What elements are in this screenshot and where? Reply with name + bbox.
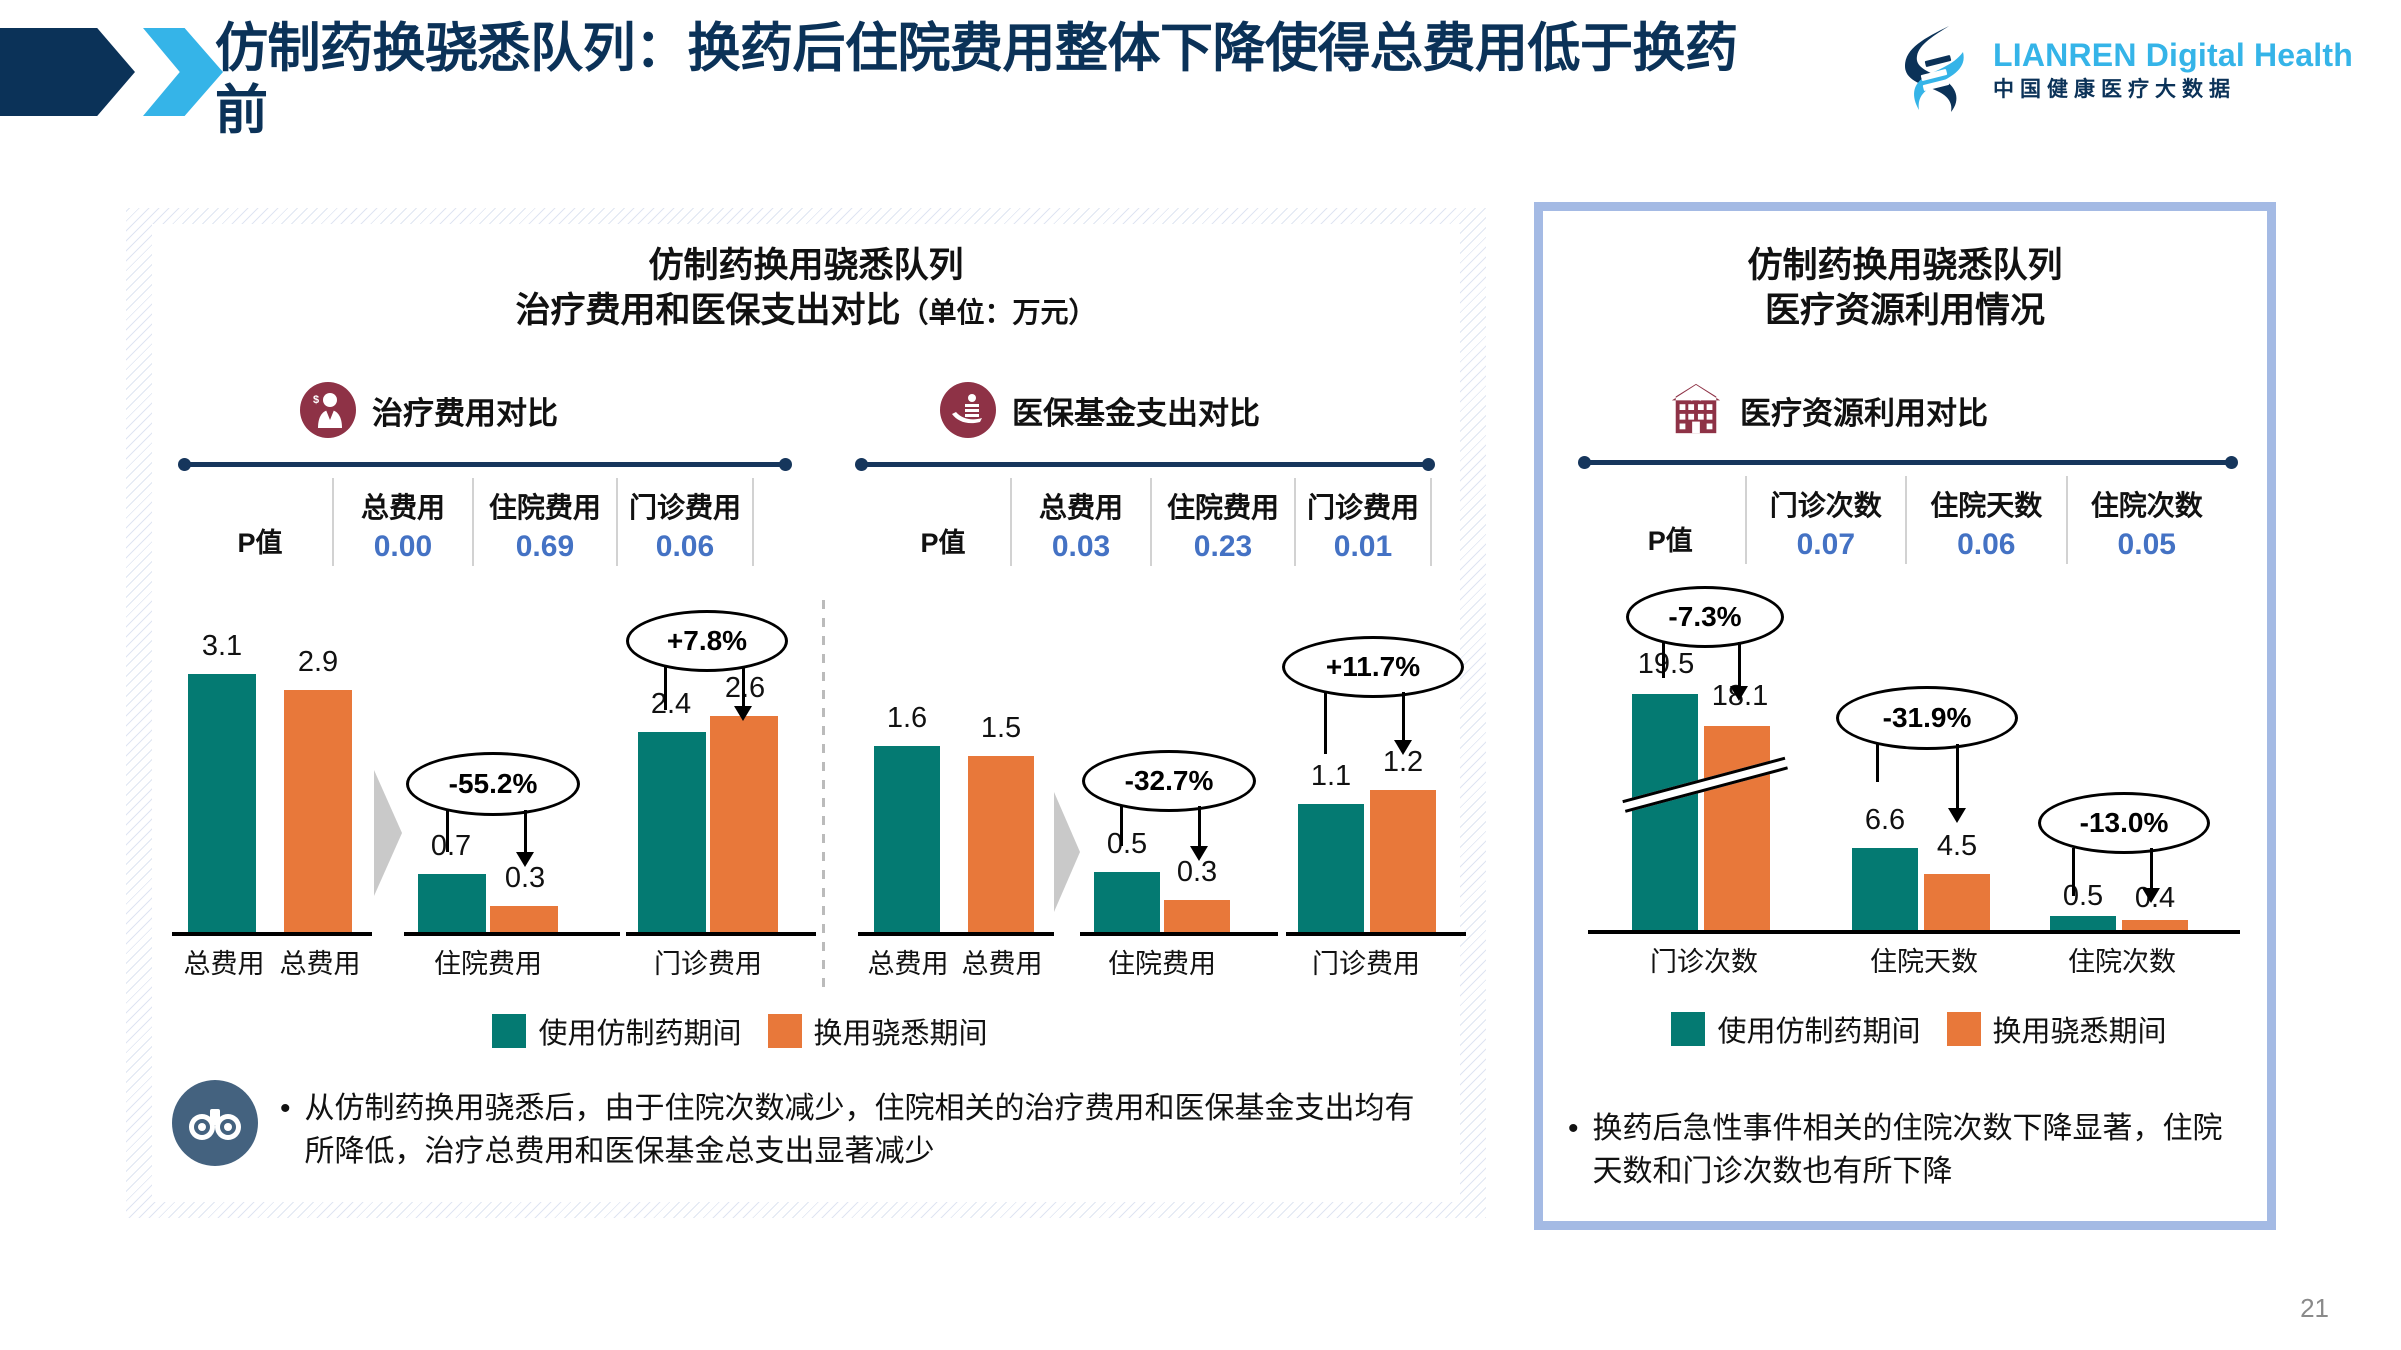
ptable-row-label: P值 (921, 521, 966, 560)
section-rule-treatment-cost (178, 458, 792, 470)
xlabel-inpatient-days: 住院天数 (1844, 940, 2004, 979)
xlabel-total-b: 总费用 (270, 942, 370, 981)
bar-teal-total (188, 674, 256, 932)
legend-item-brand: 换用骁悉期间 (768, 1010, 988, 1052)
transition-arrow-icon (1054, 792, 1080, 912)
xlabel-inpatient: 住院费用 (412, 942, 564, 981)
callout-arrow-icon (1198, 806, 1201, 848)
header-arrow-cyan-icon (143, 28, 223, 116)
callout-leader-line (446, 810, 449, 852)
bar-value-orange-outpatient: 2.6 (706, 672, 784, 705)
bar-value-teal-inpatient-days: 6.6 (1844, 804, 1926, 837)
money-person-icon: $ (300, 382, 356, 438)
ptable-header-2: 住院次数 (2091, 484, 2203, 524)
section-label-treatment-cost: 治疗费用对比 (372, 388, 558, 433)
callout-leader-line (664, 666, 667, 710)
xlabel-inpatient-count: 住院次数 (2042, 940, 2202, 979)
callout-outpatient-change: +7.8% (626, 610, 788, 672)
chart-insurance-spend: 1.6 1.5 0.5 0.3 -32.7% 1.1 1.2 +11.7% 总费… (848, 580, 1468, 1000)
header-arrow-dark-icon (0, 28, 135, 116)
legend-swatch-teal-icon (492, 1014, 526, 1048)
chart-treatment-cost: 3.1 2.9 0.7 0.3 -55.2% 2.4 2.6 +7.8% 总费用… (160, 580, 820, 1000)
bar-orange-outpatient-visits (1704, 726, 1770, 930)
callout-arrow-icon (524, 810, 527, 854)
legend-item-generic: 使用仿制药期间 (1671, 1008, 1920, 1050)
bar-orange-inpatient (1164, 900, 1230, 932)
callout-outpatient-visits-change: -7.3% (1626, 586, 1784, 648)
note-bullet: • (280, 1088, 291, 1173)
ptable-value-0: 0.00 (374, 530, 432, 564)
ptable-row-label: P值 (237, 521, 282, 560)
ptable-header-1: 住院天数 (1930, 484, 2042, 524)
bar-value-teal-outpatient: 1.1 (1292, 760, 1370, 793)
bar-value-teal-inpatient: 0.7 (412, 830, 490, 863)
callout-inpatient-count-change: -13.0% (2038, 792, 2210, 854)
bar-orange-outpatient (1370, 790, 1436, 932)
section-rule-insurance-spend (855, 458, 1435, 470)
ptable-value-1: 0.69 (516, 530, 574, 564)
legend-swatch-teal-icon (1671, 1012, 1705, 1046)
section-label-resource-use: 医疗资源利用对比 (1740, 388, 1988, 433)
ptable-header-0: 总费用 (361, 486, 445, 526)
bar-orange-inpatient-count (2122, 920, 2188, 930)
bar-teal-inpatient-days (1852, 848, 1918, 930)
bar-value-teal-inpatient: 0.5 (1088, 828, 1166, 861)
ptable-value-0: 0.07 (1797, 528, 1855, 562)
xlabel-total-a: 总费用 (174, 942, 274, 981)
bar-orange-total (284, 690, 352, 932)
bar-value-orange-inpatient-days: 4.5 (1916, 830, 1998, 863)
section-head-insurance-spend: 医保基金支出对比 (940, 382, 1260, 438)
legend-item-brand: 换用骁悉期间 (1947, 1008, 2167, 1050)
callout-leader-line (2072, 848, 2075, 896)
callout-arrow-icon (1956, 744, 1959, 810)
transition-arrow-icon (374, 770, 402, 896)
panel-divider (822, 600, 825, 990)
binoculars-icon (172, 1080, 258, 1166)
callout-arrow-icon (742, 666, 745, 708)
axis-group-1 (1080, 932, 1278, 936)
axis-group-2 (626, 932, 816, 936)
logo-text-en: LIANREN Digital Health (1993, 39, 2353, 71)
hand-coins-icon (940, 382, 996, 438)
callout-inpatient-days-change: -31.9% (1836, 686, 2018, 750)
bar-teal-inpatient-count (2050, 916, 2116, 930)
note-right-panel: • 换药后急性事件相关的住院次数下降显著，住院天数和门诊次数也有所下降 (1568, 1108, 2238, 1193)
bar-value-teal-total: 1.6 (868, 702, 946, 735)
axis-group-2 (1286, 932, 1466, 936)
slide: 仿制药换骁悉队列：换药后住院费用整体下降使得总费用低于换药前 LIANREN D… (0, 0, 2401, 1350)
bar-value-orange-total: 2.9 (280, 646, 356, 679)
xlabel-total-b: 总费用 (954, 942, 1050, 981)
ptable-resource-use: P值 门诊次数 0.07 住院天数 0.06 住院次数 0.05 (1596, 476, 2226, 564)
legend-left-panel: 使用仿制药期间 换用骁悉期间 (420, 1010, 1060, 1052)
page-title: 仿制药换骁悉队列：换药后住院费用整体下降使得总费用低于换药前 (215, 18, 1775, 142)
left-panel-title-unit: （单位：万元） (901, 297, 1097, 328)
xlabel-outpatient-visits: 门诊次数 (1624, 940, 1784, 979)
ptable-header-2: 门诊费用 (629, 486, 741, 526)
bar-teal-outpatient (638, 732, 706, 932)
note-text-left: 从仿制药换用骁悉后，由于住院次数减少，住院相关的治疗费用和医保基金支出均有所降低… (305, 1088, 1442, 1173)
xlabel-inpatient: 住院费用 (1086, 942, 1238, 981)
ptable-header-0: 门诊次数 (1770, 484, 1882, 524)
bar-orange-total (968, 756, 1034, 932)
bar-orange-inpatient-days (1924, 874, 1990, 930)
xlabel-outpatient: 门诊费用 (1290, 942, 1442, 981)
legend-swatch-orange-icon (768, 1014, 802, 1048)
ptable-value-2: 0.01 (1334, 530, 1392, 564)
note-left-panel: • 从仿制药换用骁悉后，由于住院次数减少，住院相关的治疗费用和医保基金支出均有所… (172, 1080, 1442, 1173)
chart-resource-use: 19.5 18.1 -7.3% 6.6 4.5 -31.9% 0.5 0.4 -… (1580, 580, 2260, 1000)
callout-arrow-icon (2150, 848, 2153, 890)
hospital-icon (1668, 382, 1724, 438)
left-panel-title-line1: 仿制药换用骁悉队列 (152, 244, 1460, 289)
ptable-treatment-cost: P值 总费用 0.00 住院费用 0.69 门诊费用 0.06 (188, 478, 754, 566)
ptable-header-1: 住院费用 (1167, 486, 1279, 526)
legend-label-brand: 换用骁悉期间 (1993, 1008, 2167, 1050)
bar-orange-outpatient (710, 716, 778, 932)
bar-teal-inpatient (418, 874, 486, 932)
bar-value-teal-inpatient-count: 0.5 (2042, 880, 2124, 913)
ptable-header-1: 住院费用 (489, 486, 601, 526)
callout-arrow-icon (1402, 692, 1405, 742)
bar-orange-inpatient (490, 906, 558, 932)
bar-teal-total (874, 746, 940, 932)
right-panel-title-line2: 医疗资源利用情况 (1550, 289, 2260, 334)
axis-group-0 (172, 932, 372, 936)
ptable-header-2: 门诊费用 (1307, 486, 1419, 526)
callout-inpatient-change: -55.2% (406, 752, 580, 816)
callout-leader-line (1662, 642, 1665, 678)
bar-teal-outpatient-visits (1632, 694, 1698, 930)
right-panel-title-line1: 仿制药换用骁悉队列 (1550, 244, 2260, 289)
legend-right-panel: 使用仿制药期间 换用骁悉期间 (1604, 1008, 2234, 1050)
left-panel-title: 仿制药换用骁悉队列 治疗费用和医保支出对比（单位：万元） (152, 244, 1460, 334)
axis-group-0 (858, 932, 1054, 936)
bar-value-teal-outpatient: 2.4 (632, 688, 710, 721)
bar-value-orange-total: 1.5 (962, 712, 1040, 745)
callout-arrow-icon (1738, 642, 1741, 688)
note-bullet: • (1568, 1108, 1579, 1193)
ptable-row-label: P值 (1648, 519, 1693, 558)
logo-text-cn: 中国健康医疗大数据 (1993, 79, 2353, 100)
bar-value-teal-total: 3.1 (184, 630, 260, 663)
xlabel-total-a: 总费用 (860, 942, 956, 981)
ptable-value-1: 0.06 (1957, 528, 2015, 562)
legend-label-generic: 使用仿制药期间 (538, 1010, 741, 1052)
left-panel-title-line2: 治疗费用和医保支出对比 (515, 291, 900, 330)
section-head-treatment-cost: $ 治疗费用对比 (300, 382, 558, 438)
axis-baseline (1588, 930, 2240, 934)
ptable-value-2: 0.05 (2118, 528, 2176, 562)
logo-dna-helix-icon (1891, 22, 1979, 116)
callout-leader-line (1324, 692, 1327, 754)
ptable-insurance-spend: P值 总费用 0.03 住院费用 0.23 门诊费用 0.01 (876, 478, 1432, 566)
section-label-insurance-spend: 医保基金支出对比 (1012, 388, 1260, 433)
bar-teal-inpatient (1094, 872, 1160, 932)
bar-value-teal-outpatient-visits: 19.5 (1622, 648, 1710, 681)
right-panel-title: 仿制药换用骁悉队列 医疗资源利用情况 (1550, 244, 2260, 334)
ptable-value-2: 0.06 (656, 530, 714, 564)
axis-group-1 (404, 932, 620, 936)
ptable-value-1: 0.23 (1194, 530, 1252, 564)
ptable-value-0: 0.03 (1052, 530, 1110, 564)
xlabel-outpatient: 门诊费用 (632, 942, 784, 981)
note-text-right: 换药后急性事件相关的住院次数下降显著，住院天数和门诊次数也有所下降 (1593, 1108, 2238, 1193)
callout-inpatient-change: -32.7% (1082, 750, 1256, 812)
ptable-header-0: 总费用 (1039, 486, 1123, 526)
svg-text:$: $ (313, 394, 319, 406)
legend-label-generic: 使用仿制药期间 (1717, 1008, 1920, 1050)
legend-label-brand: 换用骁悉期间 (814, 1010, 988, 1052)
bar-teal-outpatient (1298, 804, 1364, 932)
callout-outpatient-change: +11.7% (1282, 636, 1464, 698)
section-head-resource-use: 医疗资源利用对比 (1668, 382, 1988, 438)
logo: LIANREN Digital Health 中国健康医疗大数据 (1891, 22, 2353, 116)
callout-leader-line (1876, 744, 1879, 782)
legend-swatch-orange-icon (1947, 1012, 1981, 1046)
section-rule-resource-use (1578, 456, 2238, 468)
callout-leader-line (1120, 806, 1123, 846)
legend-item-generic: 使用仿制药期间 (492, 1010, 741, 1052)
page-number: 21 (2300, 1293, 2329, 1324)
